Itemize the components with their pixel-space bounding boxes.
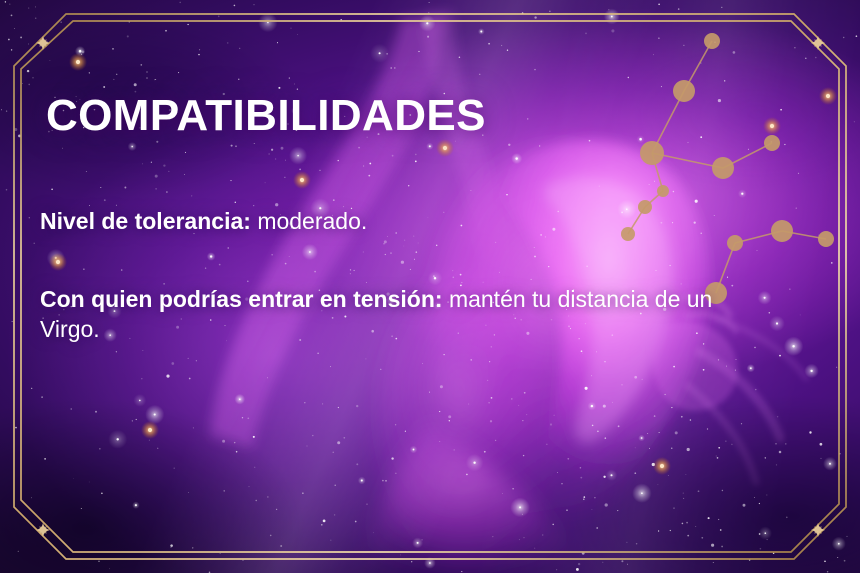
tension-line: Con quien podrías entrar en tensión: man…	[40, 284, 770, 344]
page-title: COMPATIBILIDADES	[46, 94, 486, 138]
tolerance-line: Nivel de tolerancia: moderado.	[40, 206, 367, 236]
tolerance-value: moderado.	[257, 208, 367, 234]
horoscope-card: COMPATIBILIDADES Nivel de tolerancia: mo…	[0, 0, 860, 573]
tolerance-label: Nivel de tolerancia:	[40, 208, 251, 234]
text-content: COMPATIBILIDADES Nivel de tolerancia: mo…	[0, 0, 860, 573]
tension-label: Con quien podrías entrar en tensión:	[40, 286, 443, 312]
